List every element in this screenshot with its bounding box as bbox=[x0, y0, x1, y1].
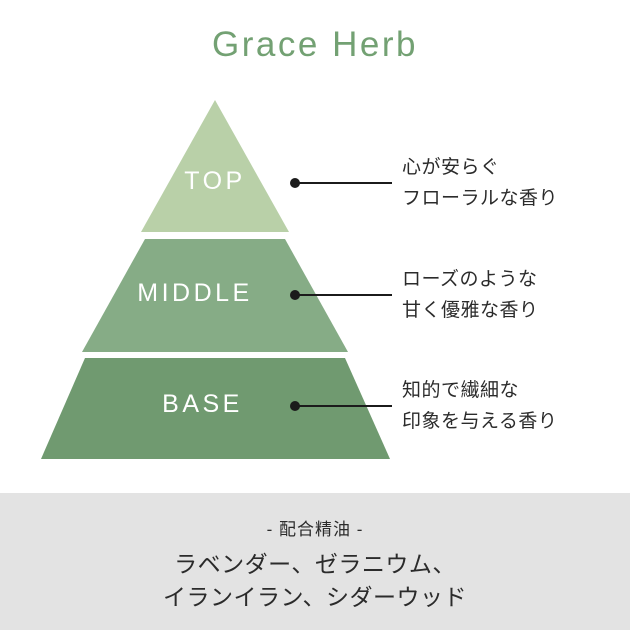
ingredients-footer: - 配合精油 - ラベンダー、ゼラニウム、 イランイラン、シダーウッド bbox=[0, 493, 630, 630]
annotation-base: 知的で繊細な 印象を与える香り bbox=[402, 375, 557, 437]
pyramid-tier-base bbox=[41, 358, 390, 459]
annotation-middle-line2: 甘く優雅な香り bbox=[402, 295, 539, 326]
annotation-middle-line1: ローズのような bbox=[402, 264, 539, 295]
connector-dot-base bbox=[290, 401, 300, 411]
connector-line-base bbox=[298, 405, 392, 407]
ingredients-heading: - 配合精油 - bbox=[0, 515, 630, 540]
product-infographic: Grace Herb TOP MIDDLE BASE 心が安らぐ フローラルな香… bbox=[0, 0, 630, 630]
connector-dot-middle bbox=[290, 290, 300, 300]
connector-line-top bbox=[298, 182, 392, 184]
annotation-middle: ローズのような 甘く優雅な香り bbox=[402, 264, 539, 326]
connector-line-middle bbox=[298, 294, 392, 296]
annotation-top-line2: フローラルな香り bbox=[402, 183, 558, 214]
annotation-top-line1: 心が安らぐ bbox=[402, 152, 558, 183]
ingredients-list: ラベンダー、ゼラニウム、 イランイラン、シダーウッド bbox=[0, 548, 630, 614]
connector-dot-top bbox=[290, 178, 300, 188]
pyramid-tier-top bbox=[141, 100, 289, 232]
annotation-base-line1: 知的で繊細な bbox=[402, 375, 557, 406]
annotation-base-line2: 印象を与える香り bbox=[402, 406, 557, 437]
ingredients-line1: ラベンダー、ゼラニウム、 bbox=[0, 548, 630, 581]
annotation-top: 心が安らぐ フローラルな香り bbox=[402, 152, 558, 214]
ingredients-line2: イランイラン、シダーウッド bbox=[0, 581, 630, 614]
